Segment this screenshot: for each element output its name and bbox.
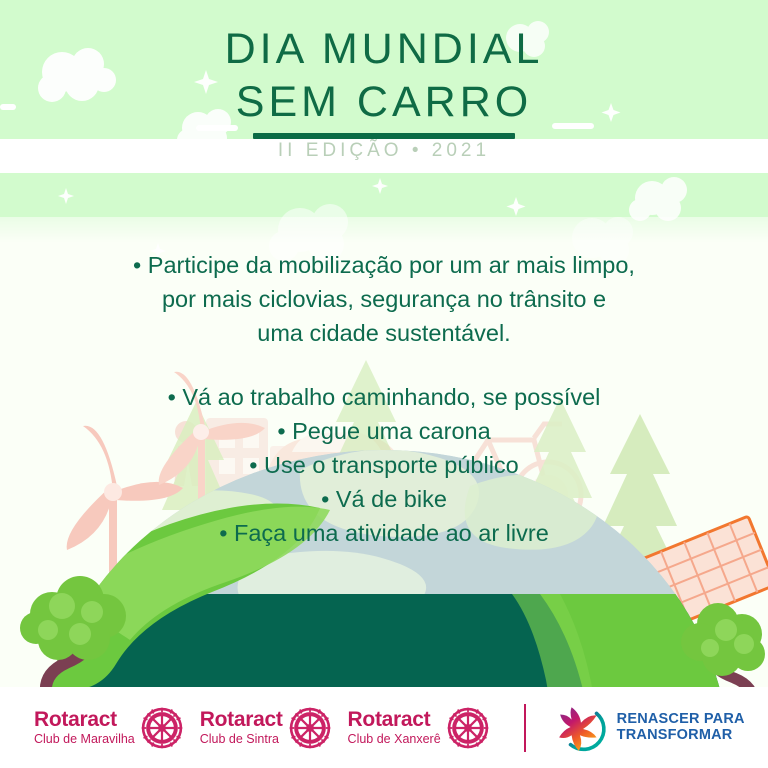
rotaract-gear-icon	[446, 706, 490, 750]
phoenix-icon	[556, 702, 608, 754]
rotaract-gear-icon	[288, 706, 332, 750]
club-subtitle: Club de Xanxerê	[348, 733, 441, 746]
list-item: • Pegue uma carona	[34, 414, 734, 448]
club-logos: Rotaract Club de Maravilha	[0, 702, 745, 754]
footer-bar: Rotaract Club de Maravilha	[0, 687, 768, 768]
rotaract-club-xanxere: Rotaract Club de Xanxerê	[348, 706, 490, 750]
body-text: • Participe da mobilização por um ar mai…	[0, 248, 768, 550]
rotaract-club-maravilha: Rotaract Club de Maravilha	[34, 706, 184, 750]
list-item: • Use o transporte público	[34, 448, 734, 482]
title-line-1: DIA MUNDIAL	[0, 28, 768, 71]
club-name: Rotaract	[200, 709, 283, 730]
renascer-para-transformar-logo: RENASCER PARA TRANSFORMAR	[556, 702, 745, 754]
intro-line: uma cidade sustentável.	[74, 316, 694, 350]
intro-line: por mais ciclovias, segurança no trânsit…	[74, 282, 694, 316]
page-title: DIA MUNDIAL SEM CARRO	[0, 28, 768, 139]
list-item: • Vá ao trabalho caminhando, se possível	[34, 380, 734, 414]
club-subtitle: Club de Sintra	[200, 733, 283, 746]
tips-list: • Vá ao trabalho caminhando, se possível…	[34, 380, 734, 550]
club-subtitle: Club de Maravilha	[34, 733, 135, 746]
title-line-2: SEM CARRO	[0, 81, 768, 124]
footer-divider	[524, 704, 526, 752]
list-item: • Faça uma atividade ao ar livre	[34, 516, 734, 550]
title-underline	[253, 133, 515, 139]
poster-canvas: DIA MUNDIAL SEM CARRO II EDIÇÃO • 2021	[0, 0, 768, 768]
rotaract-club-sintra: Rotaract Club de Sintra	[200, 706, 332, 750]
subtitle: II EDIÇÃO • 2021	[0, 140, 768, 162]
intro-line: • Participe da mobilização por um ar mai…	[74, 248, 694, 282]
renascer-line-1: RENASCER PARA	[617, 712, 745, 727]
club-name: Rotaract	[34, 709, 135, 730]
renascer-line-2: TRANSFORMAR	[617, 728, 745, 743]
intro-paragraph: • Participe da mobilização por um ar mai…	[74, 248, 694, 350]
rotaract-gear-icon	[140, 706, 184, 750]
list-item: • Vá de bike	[34, 482, 734, 516]
club-name: Rotaract	[348, 709, 441, 730]
